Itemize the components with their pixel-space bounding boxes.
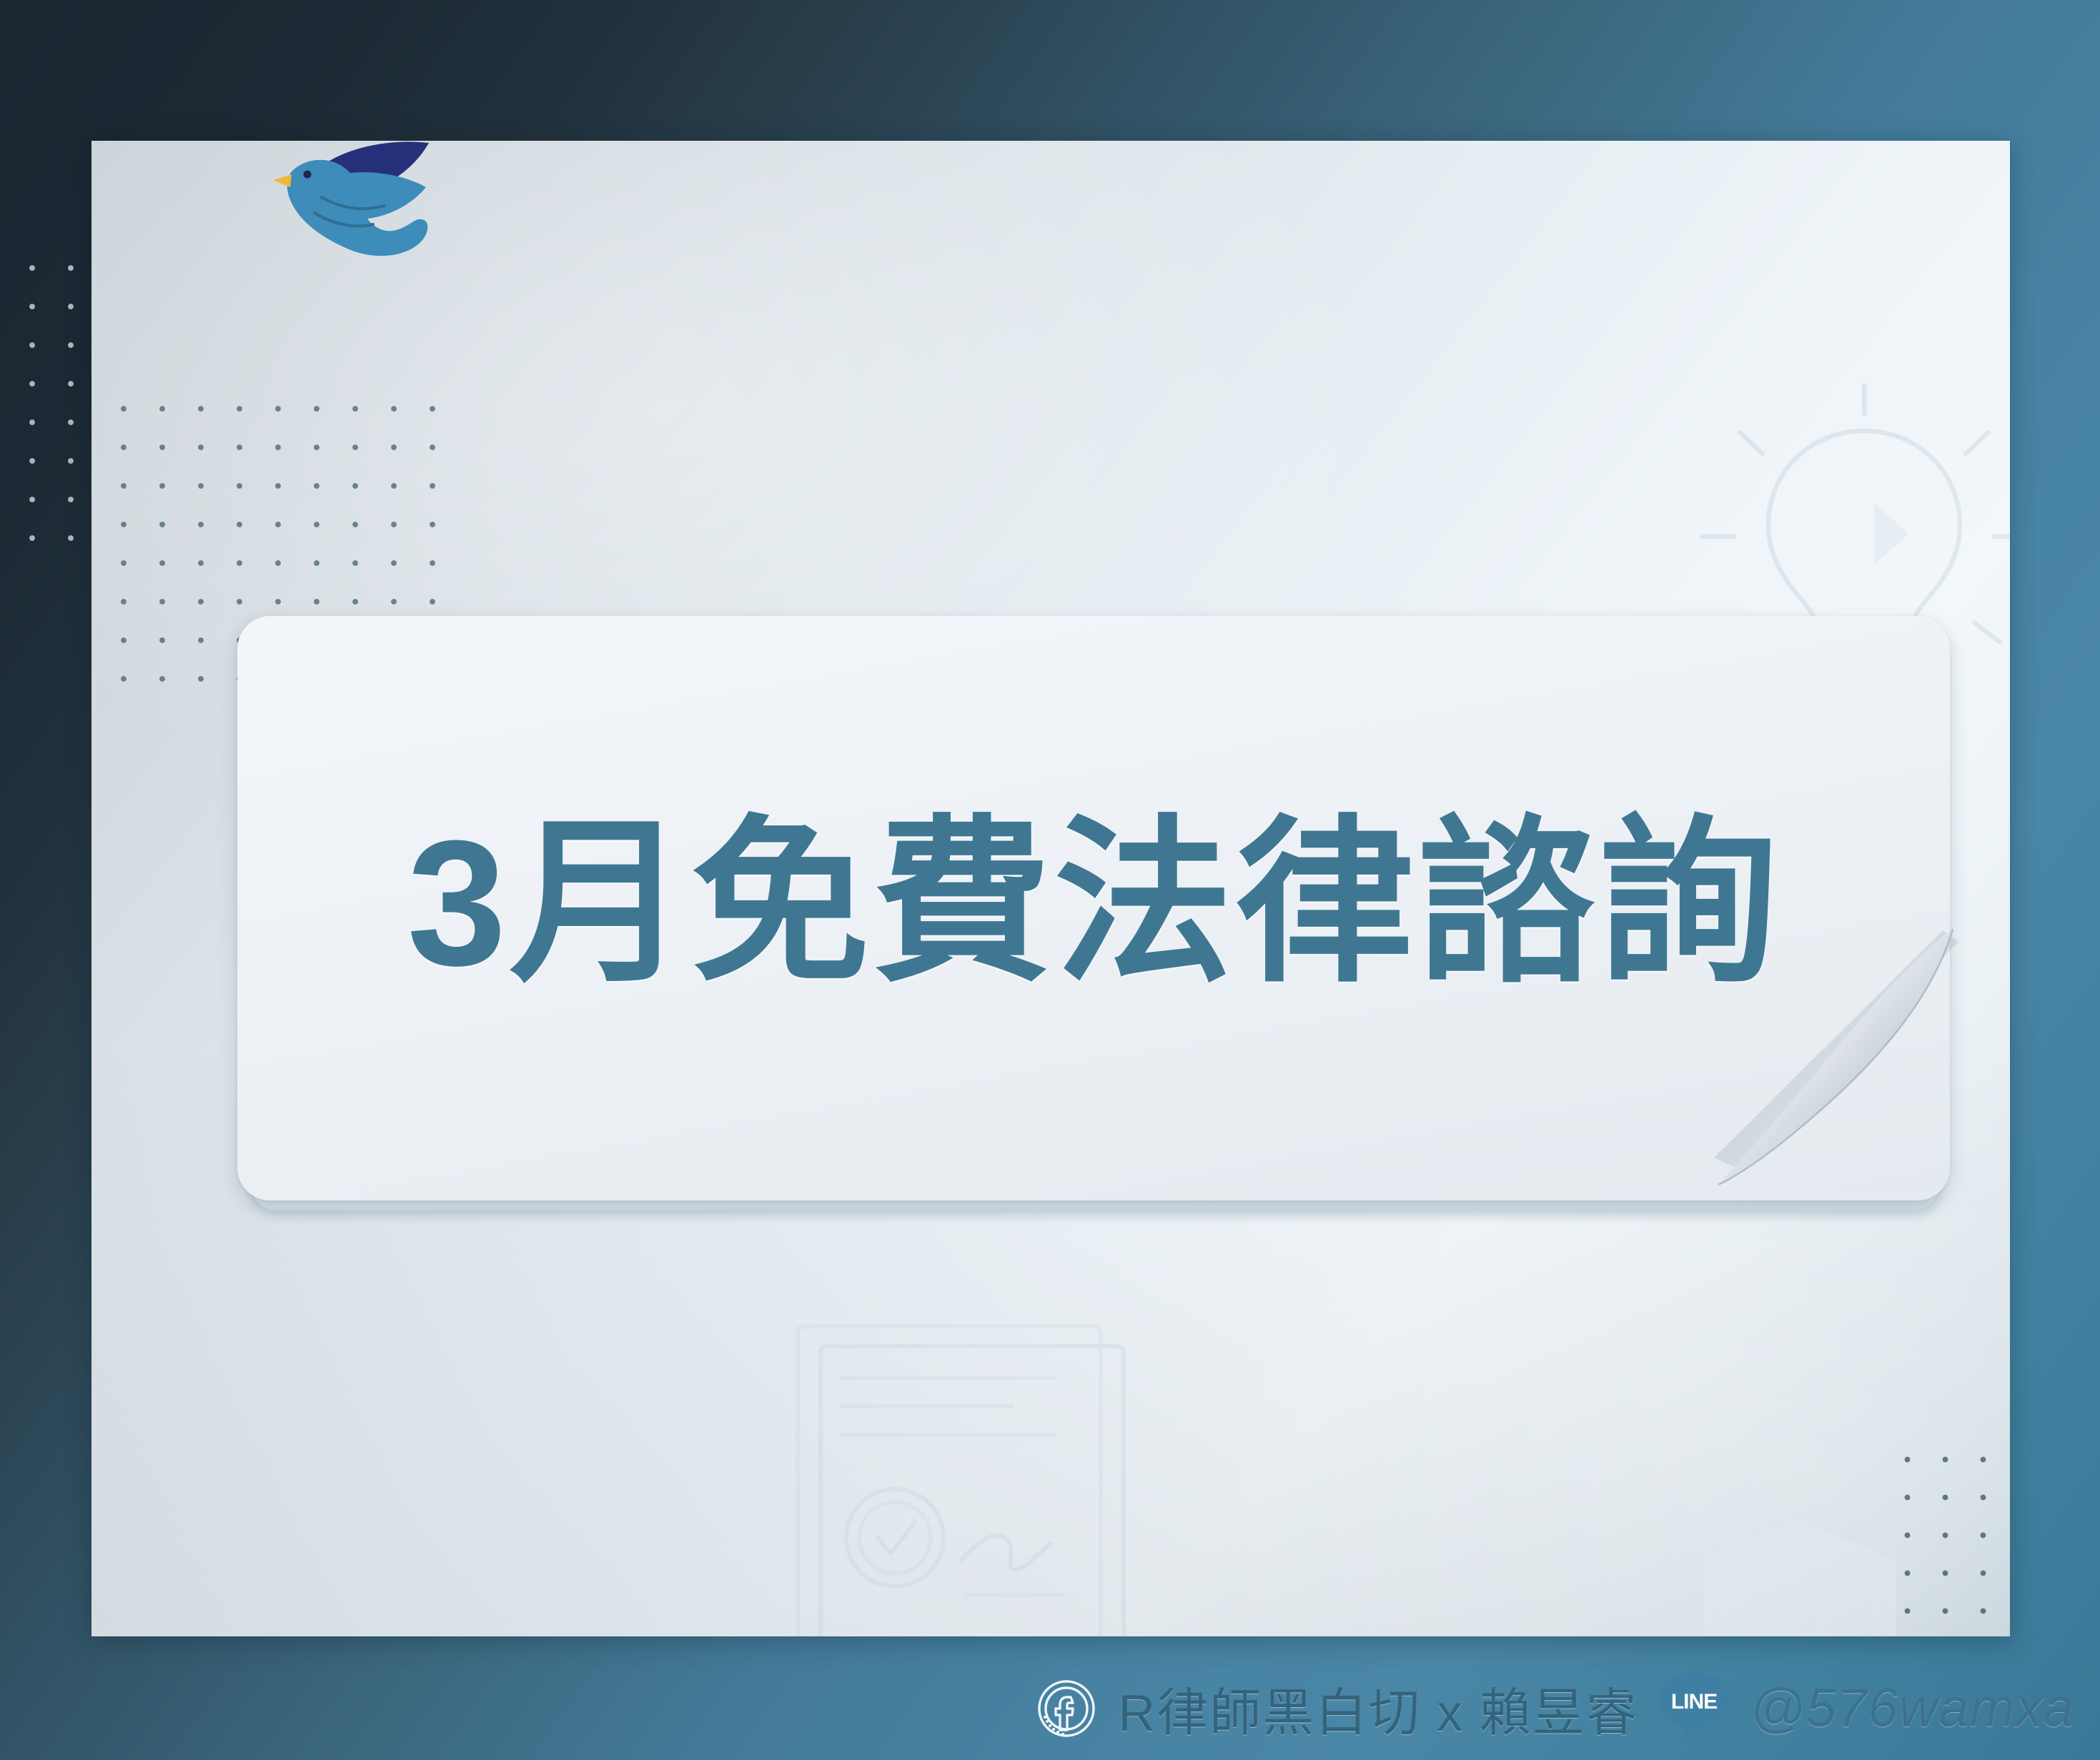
bird-illustration [214, 129, 479, 343]
dot-grid-overflow [0, 236, 93, 543]
shield-check-icon [1693, 1513, 1907, 1636]
line-account-handle: @576wamxa [1750, 1677, 2074, 1739]
poster-canvas: 3月免費法律諮詢 [0, 0, 2100, 1760]
certificate-document-icon [778, 1323, 1178, 1636]
footer-bar: R律師黑白切 x 賴昱睿 LINE @576wamxa [0, 1656, 2100, 1760]
dot-grid [1878, 1431, 2010, 1636]
line-badge-icon[interactable]: LINE [1657, 1669, 1731, 1749]
facebook-page-name: R律師黑白切 x 賴昱睿 [1118, 1671, 1638, 1746]
page-title: 3月免費法律諮詢 [237, 616, 1950, 1200]
svg-text:LINE: LINE [1671, 1690, 1717, 1714]
headline-banner: 3月免費法律諮詢 [237, 616, 1950, 1200]
facebook-circle-icon[interactable] [1034, 1676, 1099, 1741]
